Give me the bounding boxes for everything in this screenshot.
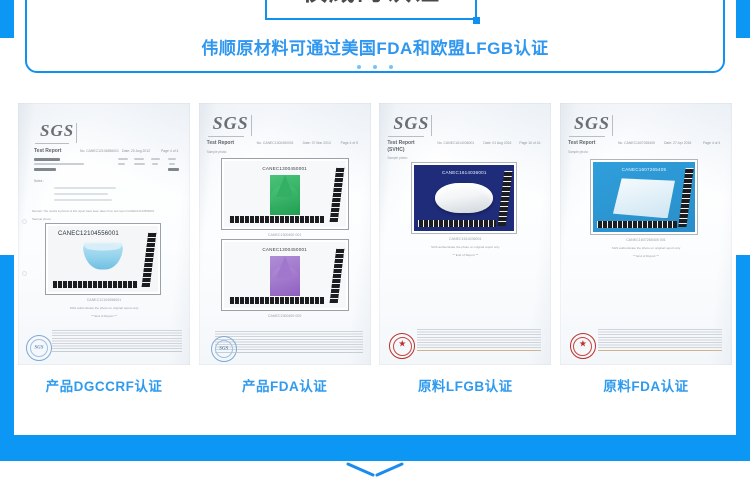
sample-photo-label: Sample photo: xyxy=(207,150,228,154)
product-green-drop xyxy=(270,175,300,215)
report-page: Page 4 of 4 xyxy=(161,149,178,153)
red-star-seal-icon: ★ xyxy=(389,333,415,359)
sgs-blue-seal-icon: SGS xyxy=(26,335,52,361)
photo-caption: CANEC1614036001 xyxy=(379,237,551,241)
dot-2 xyxy=(373,65,377,69)
sgs-logo: SGS xyxy=(213,113,249,134)
ruler-vertical-icon xyxy=(498,171,513,226)
scroll-down-indicator[interactable] xyxy=(0,462,750,479)
decor-dots xyxy=(0,58,750,76)
report-title: Test Report xyxy=(34,148,61,154)
section-subtitle: 伟顺原材料可通过美国FDA和欧盟LFGB认证 xyxy=(0,34,750,59)
sgs-logo: SGS xyxy=(574,113,610,134)
certificate-caption: 产品DGCCRF认证 xyxy=(18,375,190,395)
photo-caption: CANEC12104556001 xyxy=(18,298,190,302)
product-white-sheet xyxy=(613,178,675,218)
punch-hole-icon xyxy=(22,219,27,224)
certificate-scan: SGS Test Report No. CANEC1607265405 Date… xyxy=(560,103,732,365)
photo-caption: CANEC1300450 002 xyxy=(199,314,371,318)
report-ref-no: No. CANEC1607265405 xyxy=(618,141,655,145)
ruler-horizontal-icon xyxy=(52,281,138,288)
notes-label: Notes : xyxy=(34,179,44,183)
sample-photo: CANEC1607265405 xyxy=(593,162,695,232)
report-subtitle: (SVHC) xyxy=(387,147,404,153)
certificate-scan: SGS Test Report No. CANEC1300450001 Date… xyxy=(199,103,371,365)
sample-photo: CANEC1300450001 xyxy=(224,161,346,227)
report-title: Test Report xyxy=(568,140,595,146)
photo-caption: CANEC1607265405 001 xyxy=(560,238,732,242)
dot-1 xyxy=(357,65,361,69)
report-ref-no: No. CANEC1300450001 xyxy=(257,141,294,145)
sample-photo-label: Sample photo: xyxy=(32,217,51,221)
authenticate-note: SGS authenticate the photo on original r… xyxy=(18,306,190,310)
sample-photo-label: Sample photo: xyxy=(387,156,408,160)
decor-bar-top-right xyxy=(736,0,750,38)
report-date: Date: 27 Apr 2016 xyxy=(664,141,691,145)
photo-code: CANEC1614036001 xyxy=(414,170,514,175)
product-white-pebble xyxy=(435,183,493,213)
sample-photo: CANEC1614036001 xyxy=(414,165,514,231)
page-title: 权威的认证 xyxy=(301,0,441,8)
report-ref-no: No. CANEC1614036001 xyxy=(437,141,474,145)
report-date: Date: 20 Aug 2012 xyxy=(122,149,150,153)
dot-3 xyxy=(389,65,393,69)
report-page: Page 4 of 4 xyxy=(703,141,720,145)
sample-photo: CANEC12104556001 xyxy=(48,226,158,292)
report-date: Date: 01 Aug 2016 xyxy=(483,141,511,145)
red-star-seal-icon: ★ xyxy=(570,333,596,359)
sample-photo: CANEC1300450001 xyxy=(224,242,346,308)
product-purple-drop xyxy=(270,256,300,296)
certificate-card-fda-product[interactable]: SGS Test Report No. CANEC1300450001 Date… xyxy=(199,103,371,408)
certificate-scan: SGS Test Report No. CANEC12104556001 Dat… xyxy=(18,103,190,365)
ruler-vertical-icon xyxy=(329,167,344,222)
end-of-report-note: ** End of Report ** xyxy=(560,254,732,258)
sgs-logo: SGS xyxy=(393,113,429,134)
certificate-gallery: SGS Test Report No. CANEC12104556001 Dat… xyxy=(0,103,750,408)
certificate-scan: SGS Test Report (SVHC) No. CANEC16140360… xyxy=(379,103,551,365)
sgs-logo: SGS xyxy=(40,121,74,141)
sample-photo-label: Sample photo: xyxy=(568,150,589,154)
product-blue-bowl xyxy=(83,243,123,270)
certificate-caption: 原料FDA认证 xyxy=(560,375,732,395)
report-remark: Remark: The results & photos of this rep… xyxy=(32,209,182,213)
ruler-horizontal-icon xyxy=(229,216,324,223)
report-ref-no: No. CANEC12104556001 xyxy=(80,149,119,153)
certificate-card-lfgb-material[interactable]: SGS Test Report (SVHC) No. CANEC16140360… xyxy=(379,103,551,408)
ruler-vertical-icon xyxy=(678,168,693,227)
authenticate-note: SGS authenticate the photo on original r… xyxy=(560,246,732,250)
ruler-vertical-icon xyxy=(142,232,157,287)
certificate-card-dgccrf[interactable]: SGS Test Report No. CANEC12104556001 Dat… xyxy=(18,103,190,408)
decor-bar-top-left xyxy=(0,0,14,38)
sample-photo-frame: CANEC1300450001 xyxy=(221,239,349,311)
photo-code: CANEC12104556001 xyxy=(48,231,158,237)
certificate-caption: 产品FDA认证 xyxy=(199,375,371,395)
report-page: Page 16 of 16 xyxy=(519,141,540,145)
punch-hole-icon xyxy=(22,271,27,276)
certificate-card-fda-material[interactable]: SGS Test Report No. CANEC1607265405 Date… xyxy=(560,103,732,408)
ruler-horizontal-icon xyxy=(597,221,677,228)
title-accent-square xyxy=(473,17,480,24)
report-page: Page 4 of 5 xyxy=(341,141,358,145)
authenticate-note: SGS authenticate the photo on original r… xyxy=(379,245,551,249)
decor-bar-bottom xyxy=(0,435,750,461)
sample-photo-frame: CANEC1607265405 xyxy=(590,159,698,235)
sgs-blue-seal-icon: SGS xyxy=(211,336,237,362)
sample-photo-frame: CANEC12104556001 xyxy=(45,223,161,295)
sample-photo-frame: CANEC1614036001 xyxy=(411,162,517,234)
end-of-report-note: ** End of Report ** xyxy=(379,253,551,257)
report-date: Date: 07 Mar 2013 xyxy=(303,141,331,145)
sample-photo-frame: CANEC1300450001 xyxy=(221,158,349,230)
ruler-horizontal-icon xyxy=(229,297,324,304)
section-title-box: 权威的认证 xyxy=(265,0,477,20)
photo-caption: CANEC1300450 001 xyxy=(199,233,371,237)
photo-code: CANEC1300450001 xyxy=(224,166,346,171)
photo-code: CANEC1300450001 xyxy=(224,247,346,252)
report-title: Test Report xyxy=(387,140,414,146)
end-of-report-note: ** End of Report ** xyxy=(18,314,190,318)
ruler-vertical-icon xyxy=(329,248,344,303)
certificate-caption: 原料LFGB认证 xyxy=(379,375,551,395)
ruler-horizontal-icon xyxy=(418,220,496,227)
certification-section: 权威的认证 伟顺原材料可通过美国FDA和欧盟LFGB认证 SGS Test Re… xyxy=(0,0,750,479)
photo-code: CANEC1607265405 xyxy=(593,167,695,172)
report-title: Test Report xyxy=(207,140,234,146)
chevron-down-icon[interactable] xyxy=(344,462,406,478)
